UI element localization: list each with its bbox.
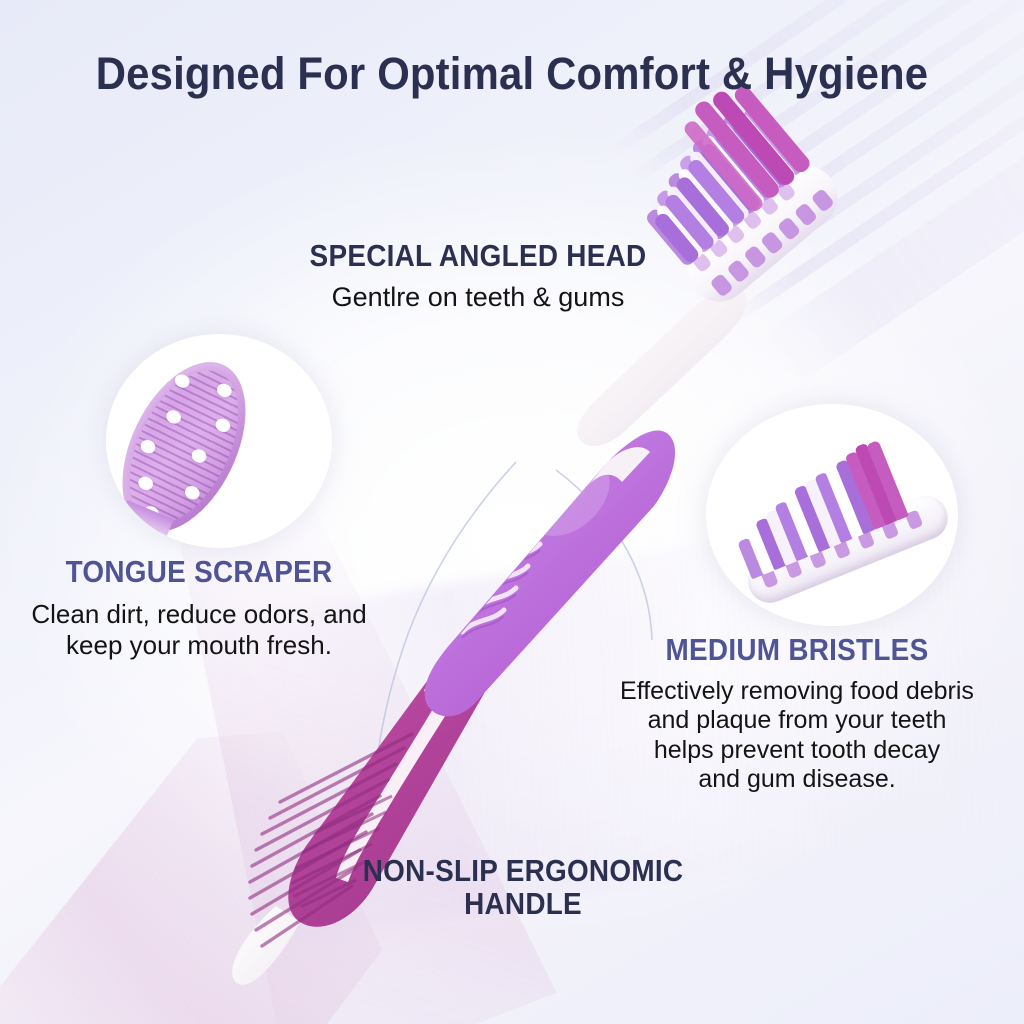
bristle-head-closeup xyxy=(714,421,955,610)
callout-tongue-scraper: TONGUE SCRAPER Clean dirt, reduce odors,… xyxy=(0,556,404,660)
handle-tip xyxy=(232,906,300,985)
callout-title-line: HANDLE xyxy=(339,888,708,921)
callout-body-line: and gum disease. xyxy=(572,765,1022,795)
callout-non-slip-ergonomic-handle: NON-SLIP ERGONOMIC HANDLE xyxy=(318,855,728,921)
tongue-scraper-inset xyxy=(106,334,332,548)
infographic-canvas: Designed For Optimal Comfort & Hygiene S… xyxy=(0,0,1024,1024)
callout-medium-bristles: MEDIUM BRISTLES Effectively removing foo… xyxy=(572,634,1022,795)
callout-body-line: Effectively removing food debris xyxy=(572,677,1022,707)
callout-title: TONGUE SCRAPER xyxy=(15,556,384,589)
callout-title: MEDIUM BRISTLES xyxy=(595,634,1000,667)
callout-body: Gentlre on teeth & gums xyxy=(218,282,738,314)
callout-body-line: helps prevent tooth decay xyxy=(572,736,1022,766)
page-title: Designed For Optimal Comfort & Hygiene xyxy=(36,48,988,100)
callout-special-angled-head: SPECIAL ANGLED HEAD Gentlre on teeth & g… xyxy=(218,240,738,314)
callout-body: Effectively removing food debris and pla… xyxy=(572,677,1022,795)
callout-body-line: and plaque from your teeth xyxy=(572,706,1022,736)
callout-body-line: Clean dirt, reduce odors, and xyxy=(0,599,404,630)
callout-title-line: NON-SLIP ERGONOMIC xyxy=(339,855,708,888)
medium-bristles-inset xyxy=(706,404,958,626)
callout-body-line: keep your mouth fresh. xyxy=(0,630,404,661)
callout-body: Clean dirt, reduce odors, and keep your … xyxy=(0,599,404,660)
tongue-scraper-pad xyxy=(106,342,271,548)
callout-title: SPECIAL ANGLED HEAD xyxy=(244,240,712,273)
